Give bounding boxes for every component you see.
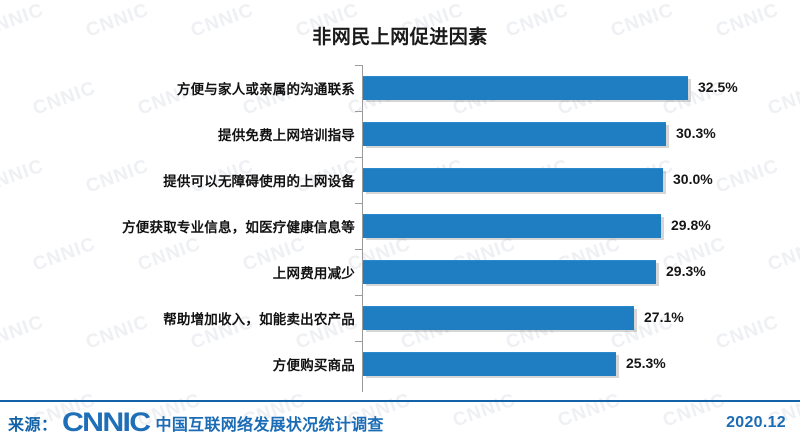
category-label: 方便与家人或亲属的沟通联系 [12, 78, 355, 98]
bar-value-label: 32.5% [698, 79, 738, 95]
axis-tick [355, 249, 362, 250]
bar[interactable] [363, 306, 634, 330]
chart-title: 非网民上网促进因素 [0, 22, 800, 49]
bar-value-label: 30.0% [673, 171, 713, 187]
bar[interactable] [363, 76, 688, 100]
bar[interactable] [363, 352, 616, 376]
category-label: 方便购买商品 [12, 354, 355, 374]
axis-tick [355, 111, 362, 112]
bar-value-label: 30.3% [676, 125, 716, 141]
bar-value-label: 29.3% [666, 263, 706, 279]
bar[interactable] [363, 260, 656, 284]
chart-footer: 来源： CNNIC 中国互联网络发展状况统计调查 2020.12 [0, 402, 800, 443]
chart-root: 非网民上网促进因素 方便与家人或亲属的沟通联系32.5%提供免费上网培训指导30… [0, 0, 800, 443]
bar-row: 方便与家人或亲属的沟通联系32.5% [0, 65, 800, 111]
axis-tick [355, 203, 362, 204]
category-label: 提供可以无障碍使用的上网设备 [12, 170, 355, 190]
axis-tick [355, 295, 362, 296]
axis-tick [355, 65, 362, 66]
bar-row: 帮助增加收入，如能卖出农产品27.1% [0, 295, 800, 341]
bar-value-label: 29.8% [671, 217, 711, 233]
bar-row: 方便获取专业信息，如医疗健康信息等29.8% [0, 203, 800, 249]
bar-row: 提供免费上网培训指导30.3% [0, 111, 800, 157]
bar-row: 方便购买商品25.3% [0, 341, 800, 387]
bar-row: 上网费用减少29.3% [0, 249, 800, 295]
cnnic-logo: CNNIC [62, 409, 149, 436]
bar-value-label: 25.3% [626, 355, 666, 371]
bar[interactable] [363, 122, 666, 146]
category-label: 上网费用减少 [12, 262, 355, 282]
category-label: 方便获取专业信息，如医疗健康信息等 [12, 216, 355, 236]
plot-area: 方便与家人或亲属的沟通联系32.5%提供免费上网培训指导30.3%提供可以无障碍… [0, 62, 800, 392]
bar[interactable] [363, 168, 663, 192]
axis-tick [355, 341, 362, 342]
axis-tick [355, 157, 362, 158]
source-label: 来源： [8, 411, 58, 435]
category-label: 帮助增加收入，如能卖出农产品 [12, 308, 355, 328]
bar[interactable] [363, 214, 661, 238]
category-label: 提供免费上网培训指导 [12, 124, 355, 144]
footer-date: 2020.12 [726, 414, 786, 432]
bar-value-label: 27.1% [644, 309, 684, 325]
bar-row: 提供可以无障碍使用的上网设备30.0% [0, 157, 800, 203]
survey-name-label: 中国互联网络发展状况统计调查 [156, 411, 384, 435]
